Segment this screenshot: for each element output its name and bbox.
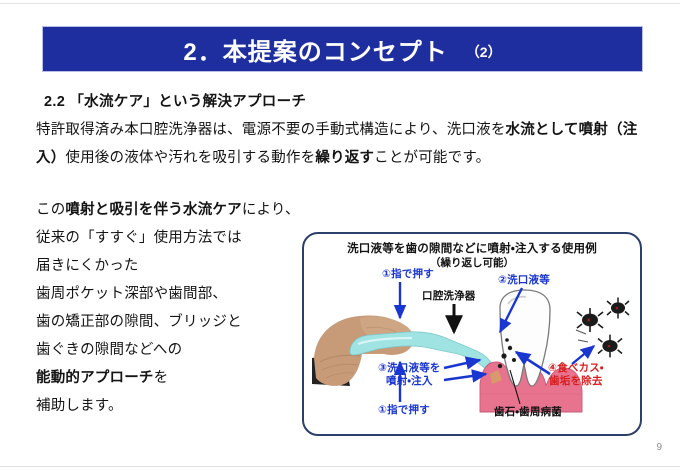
slide-title-bar: 2．本提案のコンセプト （2） xyxy=(42,26,643,72)
left-column-line-4: 歯周ポケット深部や歯間部、 xyxy=(36,280,298,308)
section-heading: 2.2 「水流ケア」という解決アプローチ xyxy=(44,90,306,111)
left-column-line-6: 歯ぐきの隙間などへの xyxy=(36,336,298,364)
figure-illustration: × × × xyxy=(304,234,644,438)
slide-title-suffix: （2） xyxy=(466,42,502,62)
label-inject: ③洗口液等を 噴射・注入 xyxy=(378,362,441,387)
left-column-text: この噴射と吸引を伴う水流ケアにより、 従来の「すすぐ」使用方法では 届きにくかっ… xyxy=(36,196,298,420)
germ-icons: × × × xyxy=(576,298,629,358)
label-press-top: ①指で押す xyxy=(382,268,434,281)
left-line7-bold: 能動的アプローチ xyxy=(36,370,154,386)
arrow-inject-upper xyxy=(444,360,480,368)
slide: 2．本提案のコンセプト （2） 2.2 「水流ケア」という解決アプローチ 特許取… xyxy=(0,0,680,471)
label-liquid: ②洗口液等 xyxy=(498,274,550,287)
slide-bottom-edge xyxy=(0,466,680,467)
paragraph-run-5: ことが可能です。 xyxy=(374,150,490,166)
left-column-line-3: 届きにくかった xyxy=(36,252,298,280)
left-line1-suffix: により、 xyxy=(242,202,300,218)
label-calculus: 歯石・歯周病菌 xyxy=(494,406,562,419)
paragraph-run-3: 使用後の液体や汚れを吸引する動作を xyxy=(65,150,315,166)
left-column-line-8: 補助します。 xyxy=(36,392,298,420)
arrow-inject-lower xyxy=(444,374,486,380)
left-line7-suffix: を xyxy=(154,370,169,386)
left-line1-prefix: この xyxy=(36,202,65,218)
svg-text:×: × xyxy=(615,306,618,312)
tooth-illustration xyxy=(500,290,550,386)
section-paragraph: 特許取得済み本口腔洗浄器は、電源不要の手動式構造により、洗口液を水流として噴射（… xyxy=(36,116,656,172)
label-remove: ④食べカス・ 歯垢を除去 xyxy=(548,362,604,387)
svg-text:×: × xyxy=(587,318,591,324)
left-column-line-5: 歯の矯正部の隙間、ブリッジと xyxy=(36,308,298,336)
label-remove-line-2: 歯垢を除去 xyxy=(548,375,604,388)
label-inject-line-2: 噴射・注入 xyxy=(378,375,441,388)
left-column-line-2: 従来の「すすぐ」使用方法では xyxy=(36,224,298,252)
slide-top-edge xyxy=(0,3,680,4)
paragraph-run-4-bold: 繰り返す xyxy=(315,150,374,166)
paragraph-run-1: 特許取得済み本口腔洗浄器は、電源不要の手動式構造により、洗口液を xyxy=(36,122,506,138)
label-remove-line-1: ④食べカス・ xyxy=(548,362,604,375)
slide-title: 2．本提案のコンセプト xyxy=(183,32,447,67)
label-device: 口腔洗浄器 xyxy=(422,290,476,303)
label-inject-line-1: ③洗口液等を xyxy=(378,362,441,375)
page-number: 9 xyxy=(656,442,662,453)
left-line1-bold: 噴射と吸引を伴う水流ケア xyxy=(65,202,241,218)
left-column-line-7: 能動的アプローチを xyxy=(36,364,298,392)
figure-panel: 洗口液等を歯の隙間などに噴射・注入する使用例 （繰り返し可能） xyxy=(302,232,642,436)
left-column-line-1: この噴射と吸引を伴う水流ケアにより、 xyxy=(36,196,298,224)
label-press-bottom: ①指で押す xyxy=(378,404,430,417)
